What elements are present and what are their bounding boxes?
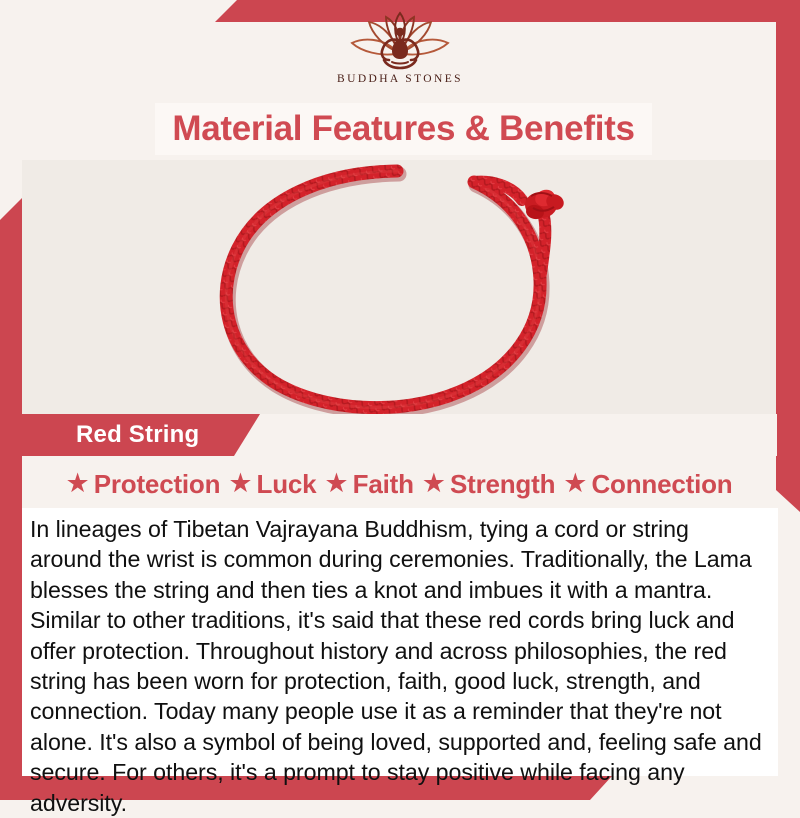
benefit-label: Faith <box>353 469 414 500</box>
product-tag: Red String <box>22 414 260 456</box>
title-band: Material Features & Benefits <box>155 103 652 155</box>
star-icon: ★ <box>228 470 252 497</box>
benefit-item-connection: ★ Connection <box>559 469 736 500</box>
benefit-item-luck: ★ Luck <box>224 469 320 500</box>
description-block: In lineages of Tibetan Vajrayana Buddhis… <box>22 508 778 776</box>
benefit-label: Luck <box>257 469 317 500</box>
page-title: Material Features & Benefits <box>172 109 634 149</box>
benefit-label: Protection <box>94 469 221 500</box>
brand-name: BUDDHA STONES <box>337 73 463 85</box>
description-text: In lineages of Tibetan Vajrayana Buddhis… <box>30 514 764 818</box>
benefit-label: Strength <box>450 469 555 500</box>
lotus-meditation-icon <box>340 10 460 72</box>
brand-header: BUDDHA STONES <box>0 0 800 100</box>
product-photo <box>22 160 776 422</box>
benefits-row: ★ Protection ★ Luck ★ Faith ★ Strength ★… <box>22 460 776 508</box>
benefit-item-strength: ★ Strength <box>418 469 560 500</box>
benefit-item-protection: ★ Protection <box>62 469 225 500</box>
star-icon: ★ <box>563 470 587 497</box>
left-red-bar <box>0 198 22 800</box>
benefit-label: Connection <box>591 469 732 500</box>
star-icon: ★ <box>324 470 348 497</box>
product-tag-label: Red String <box>76 421 199 449</box>
star-icon: ★ <box>422 470 446 497</box>
infographic-page: BUDDHA STONES Material Features & Benefi… <box>0 0 800 800</box>
star-icon: ★ <box>66 470 90 497</box>
benefit-item-faith: ★ Faith <box>320 469 417 500</box>
